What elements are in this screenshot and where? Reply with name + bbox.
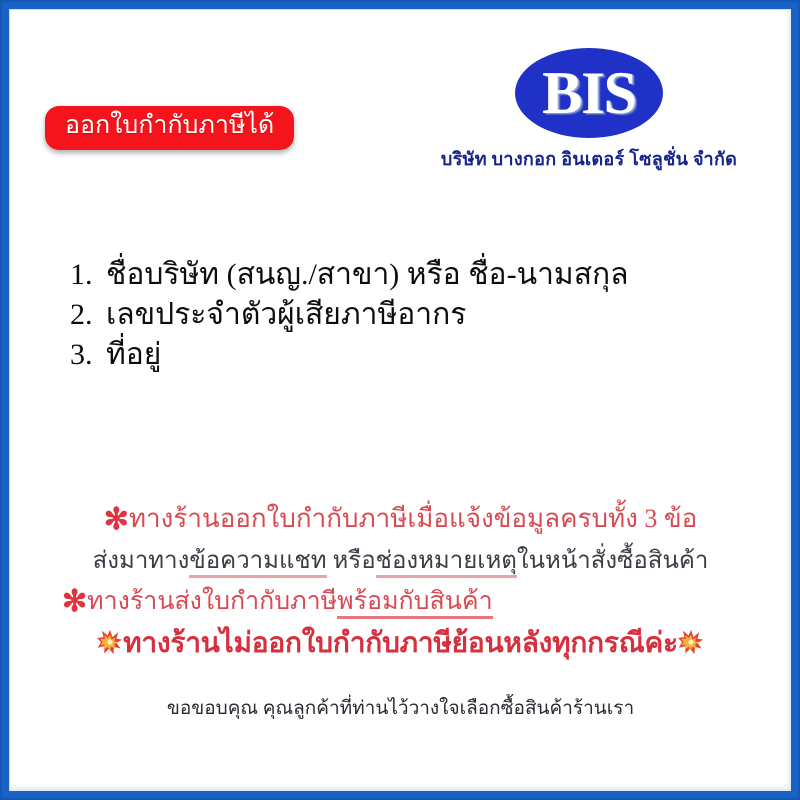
list-item: 2. เลขประจำตัวผู้เสียภาษีอากร <box>70 295 770 335</box>
collision-icon <box>678 629 704 655</box>
list-item-label: ที่อยู่ <box>106 335 161 375</box>
list-item: 3. ที่อยู่ <box>70 335 770 375</box>
list-item-label: ชื่อบริษัท (สนญ./สาขา) หรือ ชื่อ-นามสกุล <box>106 255 629 295</box>
notice-line-1-text: ทางร้านออกใบกำกับภาษีเมื่อแจ้งข้อมูลครบท… <box>129 504 697 533</box>
notice-line-4-text: ทางร้านไม่ออกใบกำกับภาษีย้อนหลังทุกกรณีค… <box>123 628 678 659</box>
notice-line-4: ทางร้านไม่ออกใบกำกับภาษีย้อนหลังทุกกรณีค… <box>10 627 791 661</box>
notice-line-3: ✻ทางร้านส่งใบกำกับภาษีพร้อมกับสินค้า <box>10 583 791 621</box>
company-logo: BIS บริษัท บางกอก อินเตอร์ โซลูชั่น จำกั… <box>409 48 769 173</box>
notice-line-2-part2: หรือ <box>327 548 376 574</box>
notice-line-2: ส่งมาทางข้อความแชท หรือช่องหมายเหตุในหน้… <box>10 544 791 579</box>
notice-line-3-underlined: พร้อมกับสินค้า <box>337 588 493 619</box>
logo-mark: BIS <box>515 48 663 138</box>
poster-header: ออกใบกำกับภาษีได้ BIS บริษัท บางกอก อินเ… <box>10 10 791 210</box>
thank-you-text: ขอขอบคุณ คุณลูกค้าที่ท่านไว้วางใจเลือกซื… <box>167 698 634 719</box>
notices-block: ✻ทางร้านออกใบกำกับภาษีเมื่อแจ้งข้อมูลครบ… <box>10 502 791 722</box>
list-item: 1. ชื่อบริษัท (สนญ./สาขา) หรือ ชื่อ-นามส… <box>70 255 770 295</box>
poster-inner-frame: ออกใบกำกับภาษีได้ BIS บริษัท บางกอก อินเ… <box>9 9 791 791</box>
notice-line-3-part1: ทางร้านส่งใบกำกับภาษี <box>87 588 337 615</box>
list-item-label: เลขประจำตัวผู้เสียภาษีอากร <box>106 295 466 335</box>
company-name-tagline: บริษัท บางกอก อินเตอร์ โซลูชั่น จำกัด <box>409 144 769 173</box>
logo-wordmark: BIS <box>515 48 663 138</box>
poster-canvas: ออกใบกำกับภาษีได้ BIS บริษัท บางกอก อินเ… <box>0 0 800 800</box>
notice-line-2-part1: ส่งมาทาง <box>93 548 190 574</box>
collision-icon <box>97 629 123 655</box>
list-item-number: 2. <box>70 295 106 335</box>
asterisk-icon: ✻ <box>62 585 87 618</box>
notice-line-2-underlined-chat: ข้อความแชท <box>189 548 326 578</box>
requirements-list: 1. ชื่อบริษัท (สนญ./สาขา) หรือ ชื่อ-นามส… <box>70 255 770 375</box>
tax-invoice-badge: ออกใบกำกับภาษีได้ <box>45 106 294 150</box>
notice-line-2-underlined-note: ช่องหมายเหตุ <box>376 548 517 578</box>
notice-line-2-part3: ในหน้าสั่งซื้อสินค้า <box>517 548 708 574</box>
notice-line-1: ✻ทางร้านออกใบกำกับภาษีเมื่อแจ้งข้อมูลครบ… <box>10 502 791 538</box>
asterisk-icon: ✻ <box>104 503 129 536</box>
thank-you-line: ขอขอบคุณ คุณลูกค้าที่ท่านไว้วางใจเลือกซื… <box>10 697 791 722</box>
list-item-number: 1. <box>70 255 106 295</box>
list-item-number: 3. <box>70 335 106 375</box>
